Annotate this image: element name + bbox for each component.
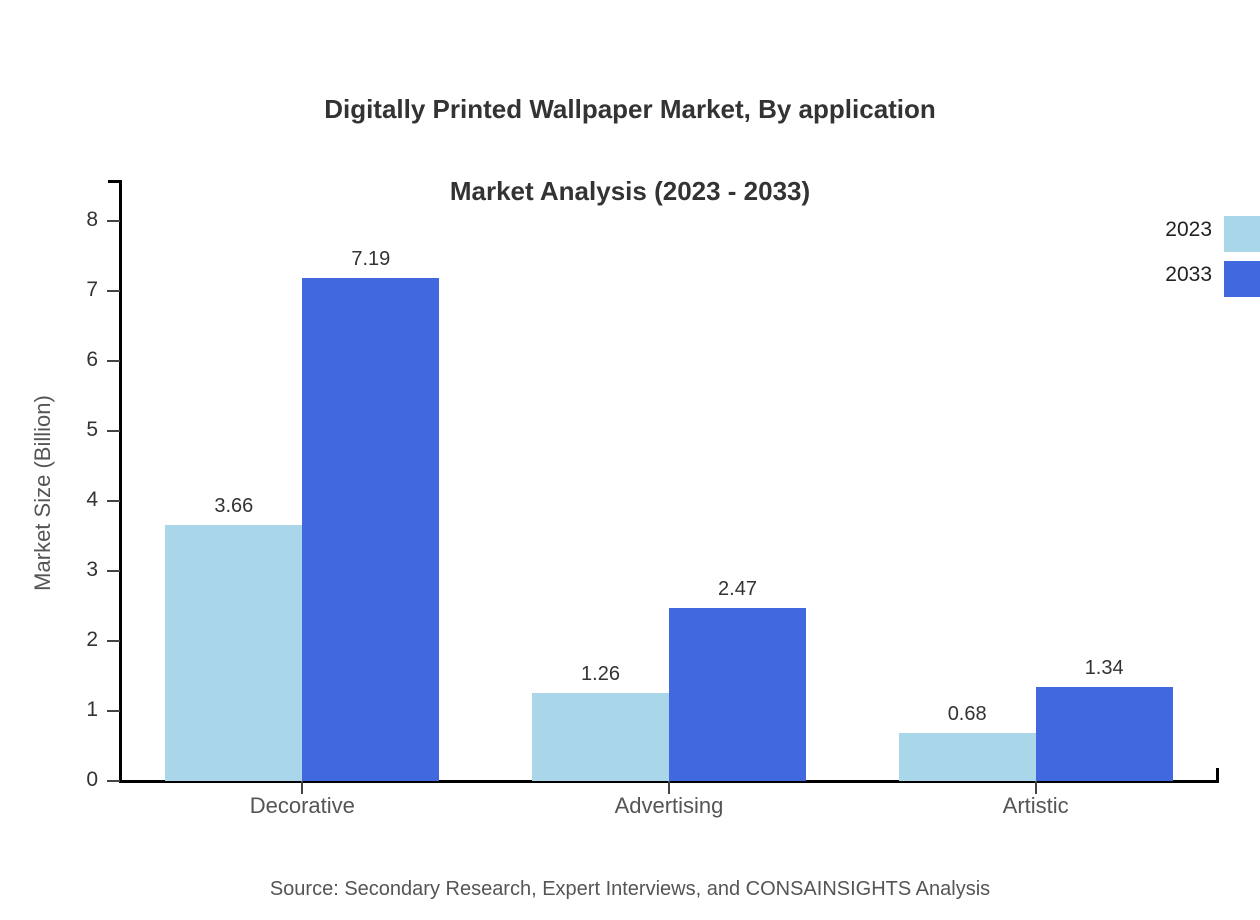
y-axis-tick-label: 8: [18, 208, 98, 232]
bar-value-label: 1.34: [1036, 657, 1173, 680]
y-axis-tick-label: 5: [18, 418, 98, 442]
source-note: Source: Secondary Research, Expert Inter…: [0, 878, 1260, 901]
legend-item-2033[interactable]: 2033: [1100, 257, 1260, 297]
y-axis-tick-label: 7: [18, 278, 98, 302]
legend-swatch: [1224, 216, 1260, 252]
chart-title-line-1: Digitally Printed Wallpaper Market, By a…: [324, 94, 936, 124]
y-axis-tick-label: 2: [18, 628, 98, 652]
y-axis-tick-label: 1: [18, 698, 98, 722]
y-axis-tick-label: 0: [18, 768, 98, 792]
bar-value-label: 1.26: [532, 663, 669, 686]
bar-artistic-2023[interactable]: [899, 733, 1036, 781]
bar-decorative-2023[interactable]: [165, 525, 302, 781]
bar-advertising-2033[interactable]: [669, 608, 806, 781]
legend-item-2023[interactable]: 2023: [1100, 212, 1260, 252]
legend-label: 2033: [1165, 263, 1212, 287]
y-axis-tick-label: 6: [18, 348, 98, 372]
bar-artistic-2033[interactable]: [1036, 687, 1173, 781]
legend-label: 2023: [1165, 218, 1212, 242]
bar-decorative-2033[interactable]: [302, 278, 439, 781]
bars-layer: 3.667.191.262.470.681.34: [119, 180, 1219, 781]
legend-swatch: [1224, 261, 1260, 297]
chart-legend: 20232033: [1100, 212, 1260, 312]
x-axis-tick-label-advertising: Advertising: [519, 793, 819, 819]
bar-value-label: 3.66: [165, 495, 302, 518]
bar-value-label: 7.19: [302, 248, 439, 271]
y-axis-tick-label: 4: [18, 488, 98, 512]
bar-advertising-2023[interactable]: [532, 693, 669, 781]
bar-value-label: 0.68: [899, 703, 1036, 726]
x-axis-tick-label-artistic: Artistic: [886, 793, 1186, 819]
x-axis-tick-label-decorative: Decorative: [152, 793, 452, 819]
y-axis-tick-label: 3: [18, 558, 98, 582]
chart-figure: Digitally Printed Wallpaper Market, By a…: [0, 0, 1260, 920]
bar-value-label: 2.47: [669, 578, 806, 601]
